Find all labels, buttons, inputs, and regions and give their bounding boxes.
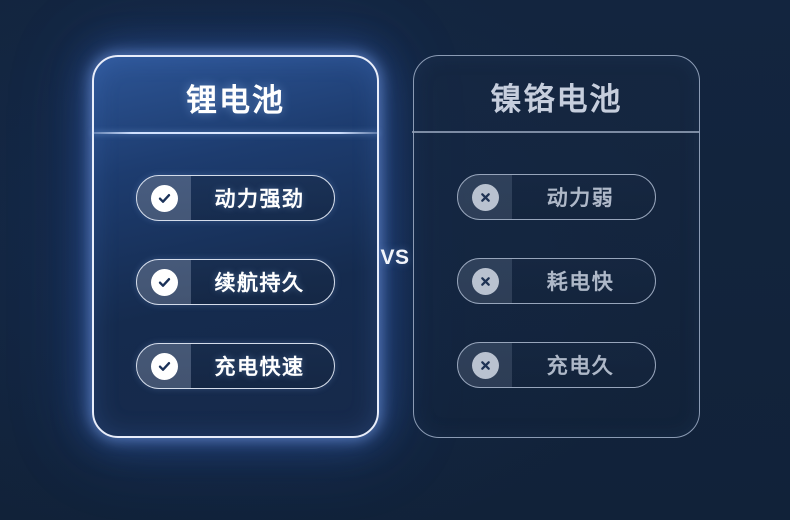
feature-label: 充电久 <box>512 350 655 380</box>
comparison-row: 锂电池 动力强劲 <box>0 0 790 520</box>
feature-pill[interactable]: 耗电快 <box>457 258 656 304</box>
feature-label: 动力弱 <box>512 182 655 212</box>
cross-circle-icon <box>472 352 499 379</box>
feature-label: 动力强劲 <box>191 183 334 213</box>
check-circle-icon <box>151 269 178 296</box>
card-divider <box>92 132 379 134</box>
check-circle-icon <box>151 353 178 380</box>
feature-icon-slot <box>137 344 191 388</box>
feature-pill[interactable]: 充电快速 <box>136 343 335 389</box>
card-divider <box>412 131 699 133</box>
feature-icon-slot <box>458 343 512 387</box>
feature-icon-slot <box>137 260 191 304</box>
card-title-lithium: 锂电池 <box>94 79 377 123</box>
feature-label: 耗电快 <box>512 266 655 296</box>
vs-separator-label: VS <box>379 246 411 270</box>
check-circle-icon <box>151 185 178 212</box>
feature-label: 续航持久 <box>191 267 334 297</box>
feature-icon-slot <box>458 259 512 303</box>
feature-pill[interactable]: 动力弱 <box>457 174 656 220</box>
feature-list-lithium: 动力强劲 续航持久 <box>94 175 377 389</box>
comparison-card-nicd[interactable]: 镍铬电池 动力弱 <box>413 55 700 438</box>
feature-pill[interactable]: 动力强劲 <box>136 175 335 221</box>
card-title-nicd: 镍铬电池 <box>414 78 699 122</box>
feature-icon-slot <box>137 176 191 220</box>
feature-label: 充电快速 <box>191 351 334 381</box>
feature-icon-slot <box>458 175 512 219</box>
feature-list-nicd: 动力弱 耗电快 <box>414 174 699 388</box>
cross-circle-icon <box>472 268 499 295</box>
feature-pill[interactable]: 充电久 <box>457 342 656 388</box>
comparison-card-lithium[interactable]: 锂电池 动力强劲 <box>92 55 379 438</box>
feature-pill[interactable]: 续航持久 <box>136 259 335 305</box>
cross-circle-icon <box>472 184 499 211</box>
